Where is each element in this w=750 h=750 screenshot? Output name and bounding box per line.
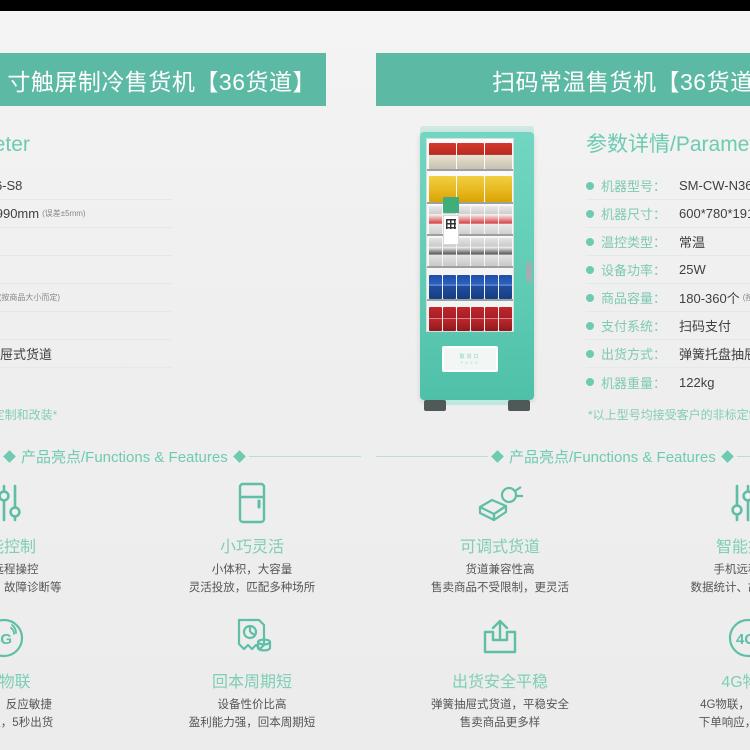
svg-text:4G: 4G [736, 631, 750, 648]
right-parameters-block: 参数详情/Parameter 机器型号： SM-CW-N36 机器尺寸： 600… [586, 128, 750, 396]
param-row: 温控类型： 常温 [586, 228, 750, 256]
right-features-divider-label: 产品亮点/Functions & Features [509, 446, 716, 467]
page-canvas: 寸触屏制冷售货机【36货道】 扫码常温售货机【36货道】 [0, 11, 750, 750]
right-vending-machine-image: 取货口 PUSH [412, 124, 542, 416]
machine-legs [420, 400, 534, 416]
svg-text:4G: 4G [0, 631, 12, 648]
param-value: 600*840*1990mm [0, 206, 39, 221]
param-note: (按商品大小而定) [743, 292, 750, 303]
feature-title: 4G物联 [0, 668, 31, 692]
param-label: 出货方式： [601, 344, 679, 363]
param-row: 出货方式： 弹簧托盘抽屉式货道 [0, 340, 172, 368]
diamond-icon [233, 450, 246, 463]
feature-item: 智能控制 手机远程操控 数据统计、故障诊断等 [0, 473, 128, 608]
feature-title: 回本周期短 [212, 668, 292, 692]
machine-pickup-door: 取货口 PUSH [442, 346, 498, 372]
left-product-title-bar: 寸触屏制冷售货机【36货道】 [0, 53, 326, 106]
right-product-title: 扫码常温售货机【36货道】 [492, 63, 750, 97]
param-label: 机器尺寸： [601, 204, 679, 223]
param-value: SM-ZL-N36-S8 [0, 178, 22, 193]
machine-shelf [427, 204, 513, 236]
feature-line1: 4G物联，反应敏捷 [700, 696, 750, 712]
left-customization-disclaimer: *以上型号均接受客户的非标定制和改装* [0, 406, 57, 423]
left-features-grid: 离 汽和凝珠 直观 智能控制 手机远程操控 数据统计、 [0, 473, 376, 743]
feature-line1: 货道兼容性高 [466, 561, 535, 577]
right-customization-disclaimer: *以上型号均接受客户的非标定制和改装* [588, 406, 750, 423]
feature-title: 智能控制 [0, 533, 36, 557]
param-row: 支付系统： 扫码支付 [0, 312, 172, 340]
machine-shelf [427, 139, 513, 171]
param-value: 122kg [679, 375, 714, 390]
bullet-dot-icon [586, 210, 594, 218]
right-product-panel: 取货口 PUSH 参数详情/Parameter 机器型号： SM-CW-N36 … [376, 118, 750, 418]
param-row: 机器尺寸： 600*780*1910mm (误差±5mm) [586, 200, 750, 228]
left-product-panel: 取货口 PUSH 参数详情/Parameter 机器型号： SM-ZL-N36-… [0, 118, 376, 418]
feature-line2: 下单响应，5秒出货 [0, 714, 53, 730]
param-row: 机器尺寸： 600*840*1990mm (误差±5mm) [0, 200, 172, 228]
left-parameters-block: 参数详情/Parameter 机器型号： SM-ZL-N36-S8 机器尺寸： … [0, 128, 172, 396]
feature-title: 智能控制 [716, 533, 750, 557]
features-row: 稳 稳安全 样 4G 4G物联 4G物联，反应敏捷 下单响应，5秒出货 [0, 608, 376, 743]
bullet-dot-icon [586, 322, 594, 330]
feature-item: 智能控制 手机远程操控 数据统计、故障诊断等 [624, 473, 750, 608]
feature-item: 4G 4G物联 4G物联，反应敏捷 下单响应，5秒出货 [0, 608, 128, 743]
param-label: 设备功率： [601, 260, 679, 279]
diamond-icon [491, 450, 504, 463]
param-value: SM-CW-N36 [679, 178, 750, 193]
features-row: 出货安全平稳 弹簧抽屉式货道，平稳安全 售卖商品更多样 4G 4G物联 4G物联… [376, 608, 750, 743]
feature-line2: 灵活投放，匹配多种场所 [189, 579, 316, 595]
bullet-dot-icon [586, 266, 594, 274]
param-value: 600*780*1910mm [679, 206, 750, 221]
param-value: 180-360个 [679, 288, 740, 307]
param-value: 扫码支付 [679, 316, 731, 335]
feature-title: 小巧灵活 [220, 533, 284, 557]
bullet-dot-icon [586, 238, 594, 246]
param-value: 25W [679, 262, 706, 277]
feature-line2: 下单响应，5秒出货 [699, 714, 750, 730]
left-product-title: 寸触屏制冷售货机【36货道】 [7, 63, 316, 97]
param-label: 商品容量： [601, 288, 679, 307]
feature-line2: 盈利能力强，回本周期短 [189, 714, 316, 730]
4g-icon: 4G [0, 612, 27, 664]
left-parameters-heading: 参数详情/Parameter [0, 128, 172, 158]
feature-line1: 设备性价比高 [218, 696, 287, 712]
param-row: 温控范围： 4~10℃ [0, 228, 172, 256]
param-label: 机器型号： [601, 176, 679, 195]
divider-line [376, 456, 488, 457]
pickup-sub-label: PUSH [460, 360, 479, 365]
machine-shelf [427, 236, 513, 268]
param-row: 设备功率： 35W/350W [0, 256, 172, 284]
machine-shelf [427, 268, 513, 300]
sliders-icon [0, 477, 24, 529]
machine-glass-window [426, 138, 514, 332]
left-features-divider: 产品亮点/Functions & Features [0, 446, 376, 466]
param-row: 支付系统： 扫码支付 [586, 312, 750, 340]
features-row: 可调式货道 货道兼容性高 售卖商品不受限制，更灵活 智能控制 手机远程 [376, 473, 750, 608]
feature-line1: 手机远程操控 [0, 561, 39, 577]
feature-title: 可调式货道 [460, 533, 540, 557]
param-row: 设备功率： 25W [586, 256, 750, 284]
feature-line2: 数据统计、故障诊断等 [0, 579, 62, 595]
promo-tag [443, 197, 459, 213]
param-row: 机器重量： 134kg [0, 368, 172, 396]
feature-title: 出货安全平稳 [452, 668, 548, 692]
param-row: 商品容量： 180-360个 (按商品大小而定) [0, 284, 172, 312]
feature-line2: 售卖商品更多样 [460, 714, 541, 730]
right-features-divider: 产品亮点/Functions & Features [376, 446, 750, 466]
feature-item: 可调式货道 货道兼容性高 售卖商品不受限制，更灵活 [376, 473, 624, 608]
divider-line [737, 456, 750, 457]
feature-line1: 4G物联，反应敏捷 [0, 696, 52, 712]
bullet-dot-icon [586, 378, 594, 386]
param-note: (误差±5mm) [42, 208, 86, 219]
right-parameters-heading: 参数详情/Parameter [586, 128, 750, 158]
machine-door-handle [526, 262, 532, 282]
param-row: 机器重量： 122kg [586, 368, 750, 396]
param-label: 支付系统： [601, 316, 679, 335]
divider-line [249, 456, 361, 457]
feature-line2: 数据统计、故障诊断等 [691, 579, 750, 595]
feature-line1: 小体积，大容量 [212, 561, 293, 577]
param-note: (按商品大小而定) [0, 292, 60, 303]
param-row: 机器型号： SM-CW-N36 [586, 172, 750, 200]
param-label: 温控类型： [601, 232, 679, 251]
param-row: 商品容量： 180-360个 (按商品大小而定) [586, 284, 750, 312]
qr-code-tag [443, 215, 459, 245]
feature-line1: 弹簧抽屉式货道，平稳安全 [431, 696, 569, 712]
top-black-strip [0, 0, 750, 11]
param-label: 机器重量： [601, 373, 679, 392]
diamond-icon [3, 450, 16, 463]
param-row: 机器型号： SM-ZL-N36-S8 [0, 172, 172, 200]
fridge-icon [233, 477, 271, 529]
right-features-grid: 可调式货道 货道兼容性高 售卖商品不受限制，更灵活 智能控制 手机远程 [376, 473, 750, 743]
pickup-label: 取货口 [459, 353, 480, 360]
bullet-dot-icon [586, 350, 594, 358]
param-row: 出货方式： 弹簧托盘抽屉式货道 [586, 340, 750, 368]
machine-shelf [427, 171, 513, 203]
diamond-icon [721, 450, 734, 463]
features-row: 离 汽和凝珠 直观 智能控制 手机远程操控 数据统计、 [0, 473, 376, 608]
param-value: 弹簧托盘抽屉式货道 [679, 344, 750, 363]
bullet-dot-icon [586, 294, 594, 302]
bullet-dot-icon [586, 182, 594, 190]
right-product-title-bar: 扫码常温售货机【36货道】 [376, 53, 750, 106]
dispense-box-icon [477, 612, 523, 664]
adjustable-shelf-icon [475, 477, 525, 529]
sliders-icon [728, 477, 750, 529]
param-value: 弹簧托盘抽屉式货道 [0, 344, 52, 363]
machine-shelf [427, 301, 513, 331]
feature-item: 回本周期短 设备性价比高 盈利能力强，回本周期短 [128, 608, 376, 743]
feature-item: 4G 4G物联 4G物联，反应敏捷 下单响应，5秒出货 [624, 608, 750, 743]
feature-item: 小巧灵活 小体积，大容量 灵活投放，匹配多种场所 [128, 473, 376, 608]
feature-line1: 手机远程操控 [714, 561, 750, 577]
feature-title: 4G物联 [721, 668, 750, 692]
param-value: 常温 [679, 232, 705, 251]
chart-receipt-icon [230, 612, 274, 664]
feature-item: 出货安全平稳 弹簧抽屉式货道，平稳安全 售卖商品更多样 [376, 608, 624, 743]
4g-icon: 4G [725, 612, 750, 664]
left-features-divider-label: 产品亮点/Functions & Features [21, 446, 228, 467]
feature-line2: 售卖商品不受限制，更灵活 [431, 579, 569, 595]
